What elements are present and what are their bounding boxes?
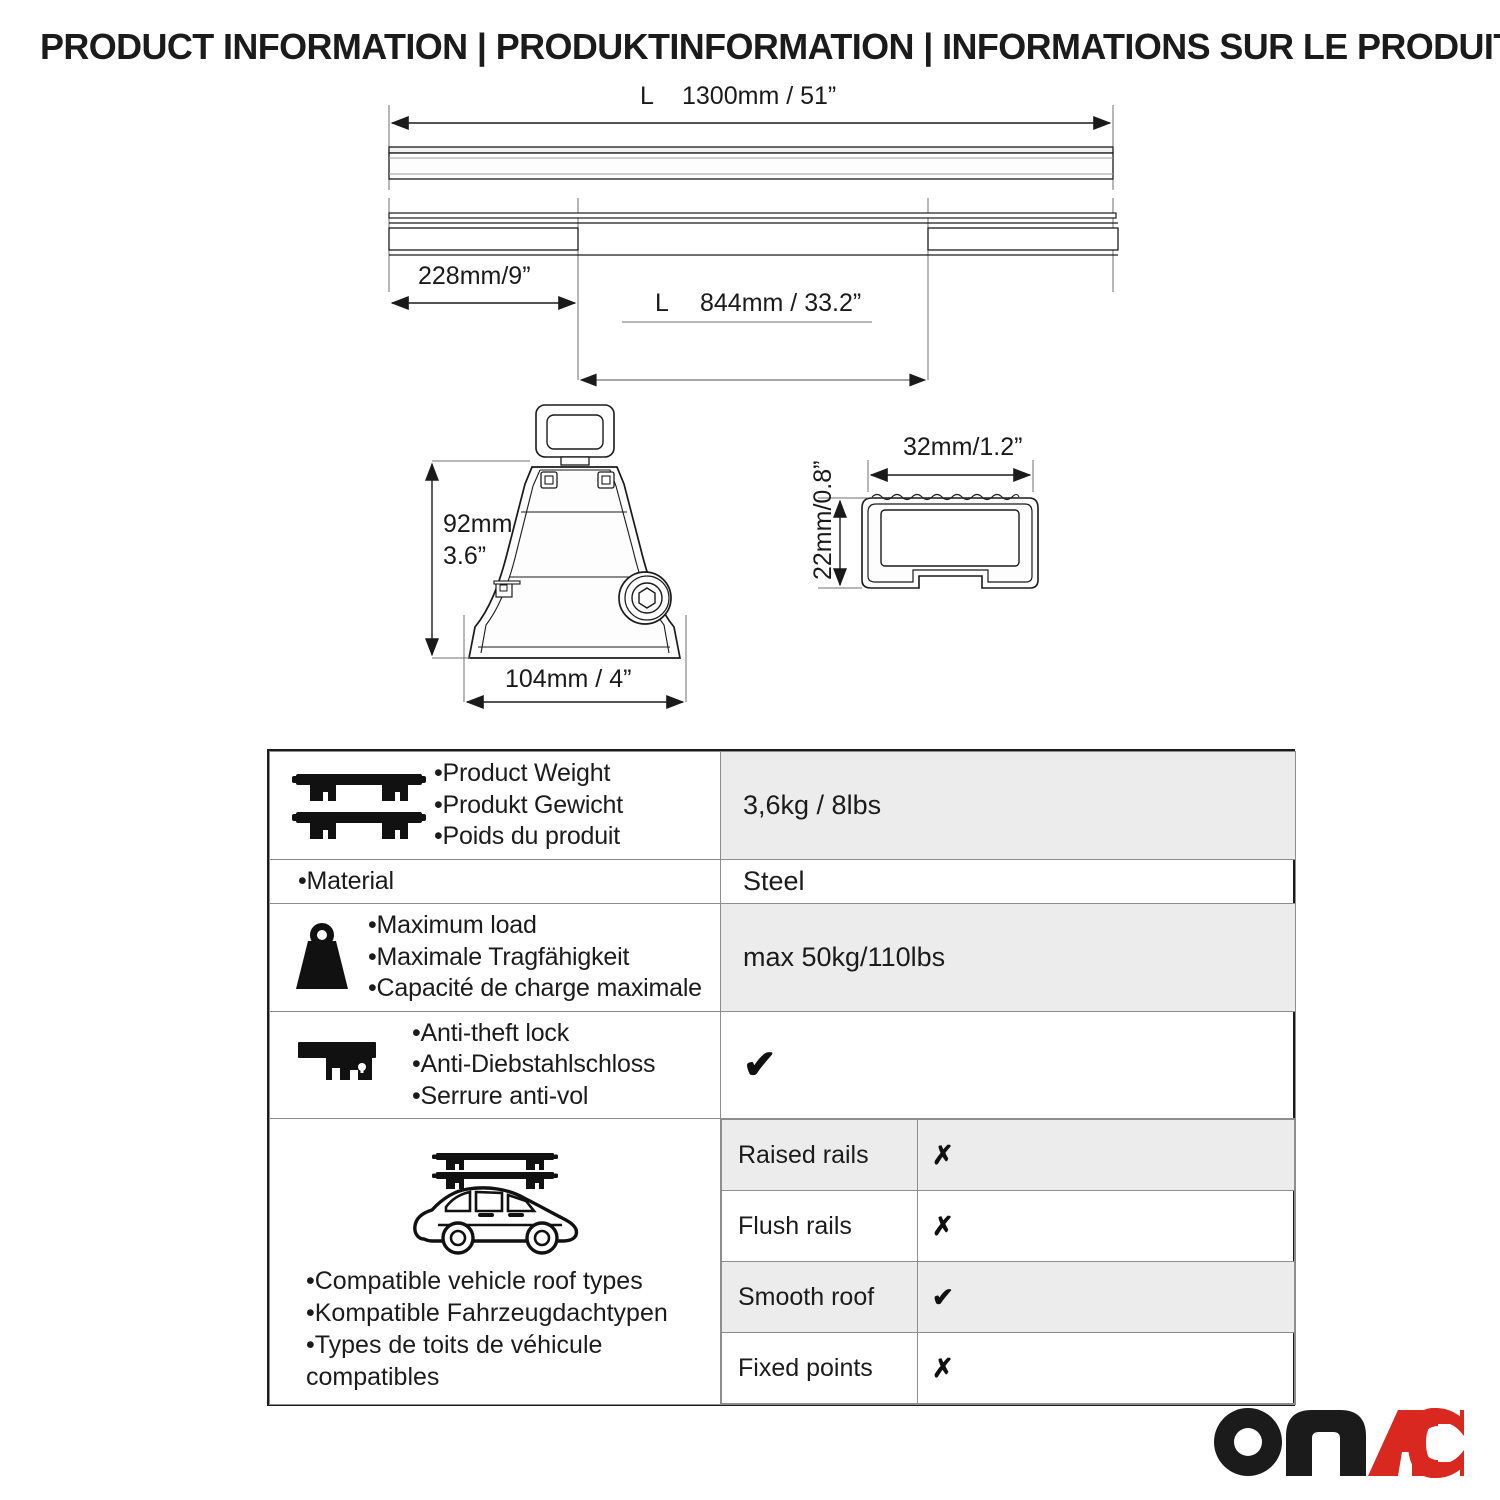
roof-type-name-cell: Smooth roof — [722, 1262, 918, 1333]
max-load-value: max 50kg/110lbs — [721, 942, 1295, 973]
product-weight-value: 3,6kg / 8lbs — [721, 790, 1295, 821]
table-row: •Material Steel — [270, 859, 1296, 904]
roof-type-support-cell: ✗ — [918, 1191, 1295, 1262]
label-line: •Types de toits de véhicule compatibles — [306, 1329, 706, 1393]
label-line: •Produkt Gewicht — [434, 790, 623, 822]
label-line: •Maximum load — [368, 910, 702, 942]
row-maxload-label-cell: •Maximum load •Maximale Tragfähigkeit •C… — [270, 904, 721, 1012]
label-line: •Serrure anti-vol — [412, 1081, 655, 1113]
row-maxload-value-cell: max 50kg/110lbs — [721, 904, 1296, 1012]
row-material-value-cell: Steel — [721, 859, 1296, 904]
label-line: •Capacité de charge maximale — [368, 973, 702, 1005]
row-material-labels: •Material — [298, 866, 394, 898]
roof-type-mark: ✗ — [918, 1213, 1294, 1239]
page-title: PRODUCT INFORMATION | PRODUKTINFORMATION… — [40, 26, 1449, 68]
roof-types-table: Raised rails ✗ Flush rails ✗ — [721, 1119, 1295, 1404]
table-row: •Product Weight •Produkt Gewicht •Poids … — [270, 752, 1296, 860]
label-line: •Compatible vehicle roof types — [306, 1265, 706, 1297]
roof-type-name: Raised rails — [722, 1141, 917, 1170]
roof-type-mark: ✗ — [918, 1355, 1294, 1381]
roof-type-name-cell: Flush rails — [722, 1191, 918, 1262]
row-weight-value-cell: 3,6kg / 8lbs — [721, 752, 1296, 860]
row-maxload-labels: •Maximum load •Maximale Tragfähigkeit •C… — [368, 910, 702, 1005]
label-line: •Kompatible Fahrzeugdachtypen — [306, 1297, 706, 1329]
weight-icon — [276, 919, 368, 995]
label-line: •Anti-Diebstahlschloss — [412, 1049, 655, 1081]
row-compatibility-labels: •Compatible vehicle roof types •Kompatib… — [284, 1265, 706, 1393]
roof-type-row: Smooth roof ✔ — [722, 1262, 1295, 1333]
label-line: •Anti-theft lock — [412, 1018, 655, 1050]
roof-type-name: Flush rails — [722, 1212, 917, 1241]
label-line: •Material — [298, 866, 394, 898]
profile-height-value: 22mm/0.8” — [809, 461, 837, 580]
row-lock-value-cell: ✔ — [721, 1011, 1296, 1119]
roof-type-name: Smooth roof — [722, 1283, 917, 1312]
profile-width-value: 32mm/1.2” — [903, 433, 1022, 461]
row-weight-labels: •Product Weight •Produkt Gewicht •Poids … — [434, 758, 623, 853]
roof-type-name: Fixed points — [722, 1354, 917, 1383]
table-row: •Compatible vehicle roof types •Kompatib… — [270, 1119, 1296, 1405]
car-with-roof-rack-icon — [284, 1137, 710, 1257]
lock-icon — [276, 1034, 412, 1096]
roof-type-support-cell: ✗ — [918, 1333, 1295, 1404]
roof-type-name-cell: Fixed points — [722, 1333, 918, 1404]
roof-type-support-cell: ✔ — [918, 1262, 1295, 1333]
row-lock-labels: •Anti-theft lock •Anti-Diebstahlschloss … — [412, 1018, 655, 1113]
foot-height-line2: 3.6” — [443, 542, 486, 570]
roof-type-row: Fixed points ✗ — [722, 1333, 1295, 1404]
span-value: 844mm / 33.2” — [700, 289, 861, 317]
anti-theft-check-mark: ✔ — [721, 1045, 1295, 1085]
roof-type-row: Raised rails ✗ — [722, 1120, 1295, 1191]
label-line: •Product Weight — [434, 758, 623, 790]
roof-types-cell: Raised rails ✗ Flush rails ✗ — [721, 1119, 1296, 1405]
roof-type-row: Flush rails ✗ — [722, 1191, 1295, 1262]
technical-drawing: L 1300mm / 51” 228mm/9” L 844mm / 33.2” — [0, 80, 1500, 740]
roof-type-support-cell: ✗ — [918, 1120, 1295, 1191]
bar-length-value: 1300mm / 51” — [682, 82, 836, 110]
label-line: •Maximale Tragfähigkeit — [368, 942, 702, 974]
row-weight-label-cell: •Product Weight •Produkt Gewicht •Poids … — [270, 752, 721, 860]
label-line: •Poids du produit — [434, 821, 623, 853]
roof-type-mark: ✔ — [918, 1284, 1294, 1310]
foot-width-value: 104mm / 4” — [505, 665, 631, 693]
specification-table: •Product Weight •Produkt Gewicht •Poids … — [267, 749, 1295, 1406]
roof-type-mark: ✗ — [918, 1142, 1294, 1168]
row-compatibility-label-cell: •Compatible vehicle roof types •Kompatib… — [270, 1119, 721, 1405]
roof-type-name-cell: Raised rails — [722, 1120, 918, 1191]
table-row: •Maximum load •Maximale Tragfähigkeit •C… — [270, 904, 1296, 1012]
foot-height-line1: 92mm — [443, 510, 512, 538]
crossbars-icon — [284, 764, 434, 846]
row-material-label-cell: •Material — [270, 859, 721, 904]
omac-logo — [1212, 1406, 1464, 1478]
row-lock-label-cell: •Anti-theft lock •Anti-Diebstahlschloss … — [270, 1011, 721, 1119]
bar-length-L-letter: L — [640, 82, 654, 110]
foot-offset-value: 228mm/9” — [418, 262, 531, 290]
material-value: Steel — [721, 866, 1295, 897]
table-row: •Anti-theft lock •Anti-Diebstahlschloss … — [270, 1011, 1296, 1119]
span-L-letter: L — [655, 289, 669, 317]
